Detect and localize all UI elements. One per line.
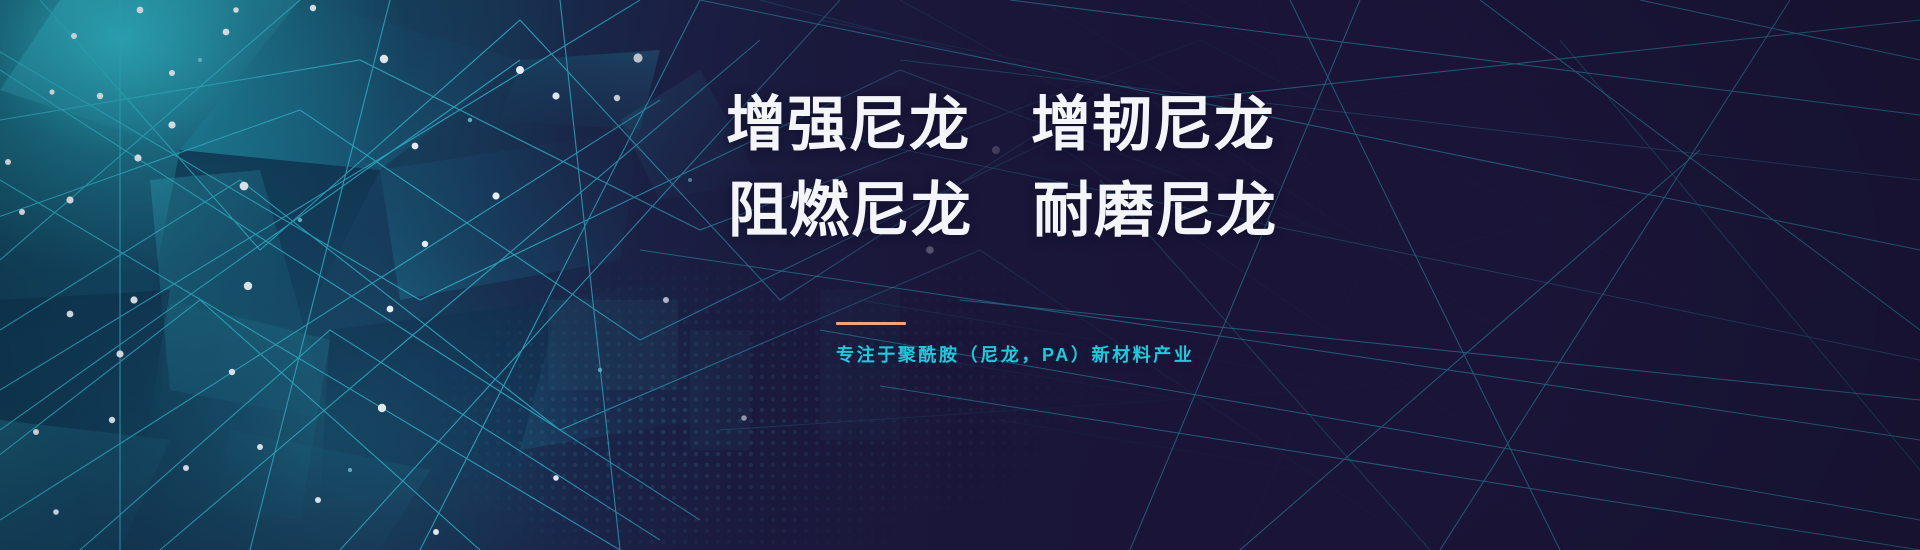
accent-rule-icon	[836, 322, 906, 325]
divider-container	[726, 322, 1426, 325]
banner-subtitle: 专注于聚酰胺（尼龙，PA）新材料产业	[726, 341, 1426, 367]
banner-content: 增强尼龙 增韧尼龙 阻燃尼龙 耐磨尼龙 专注于聚酰胺（尼龙，PA）新材料产业	[726, 82, 1426, 367]
promo-banner: 增强尼龙 增韧尼龙 阻燃尼龙 耐磨尼龙 专注于聚酰胺（尼龙，PA）新材料产业	[0, 0, 1920, 550]
headline-line-2: 阻燃尼龙 耐磨尼龙	[726, 168, 1426, 254]
headline-line-1: 增强尼龙 增韧尼龙	[726, 82, 1426, 168]
